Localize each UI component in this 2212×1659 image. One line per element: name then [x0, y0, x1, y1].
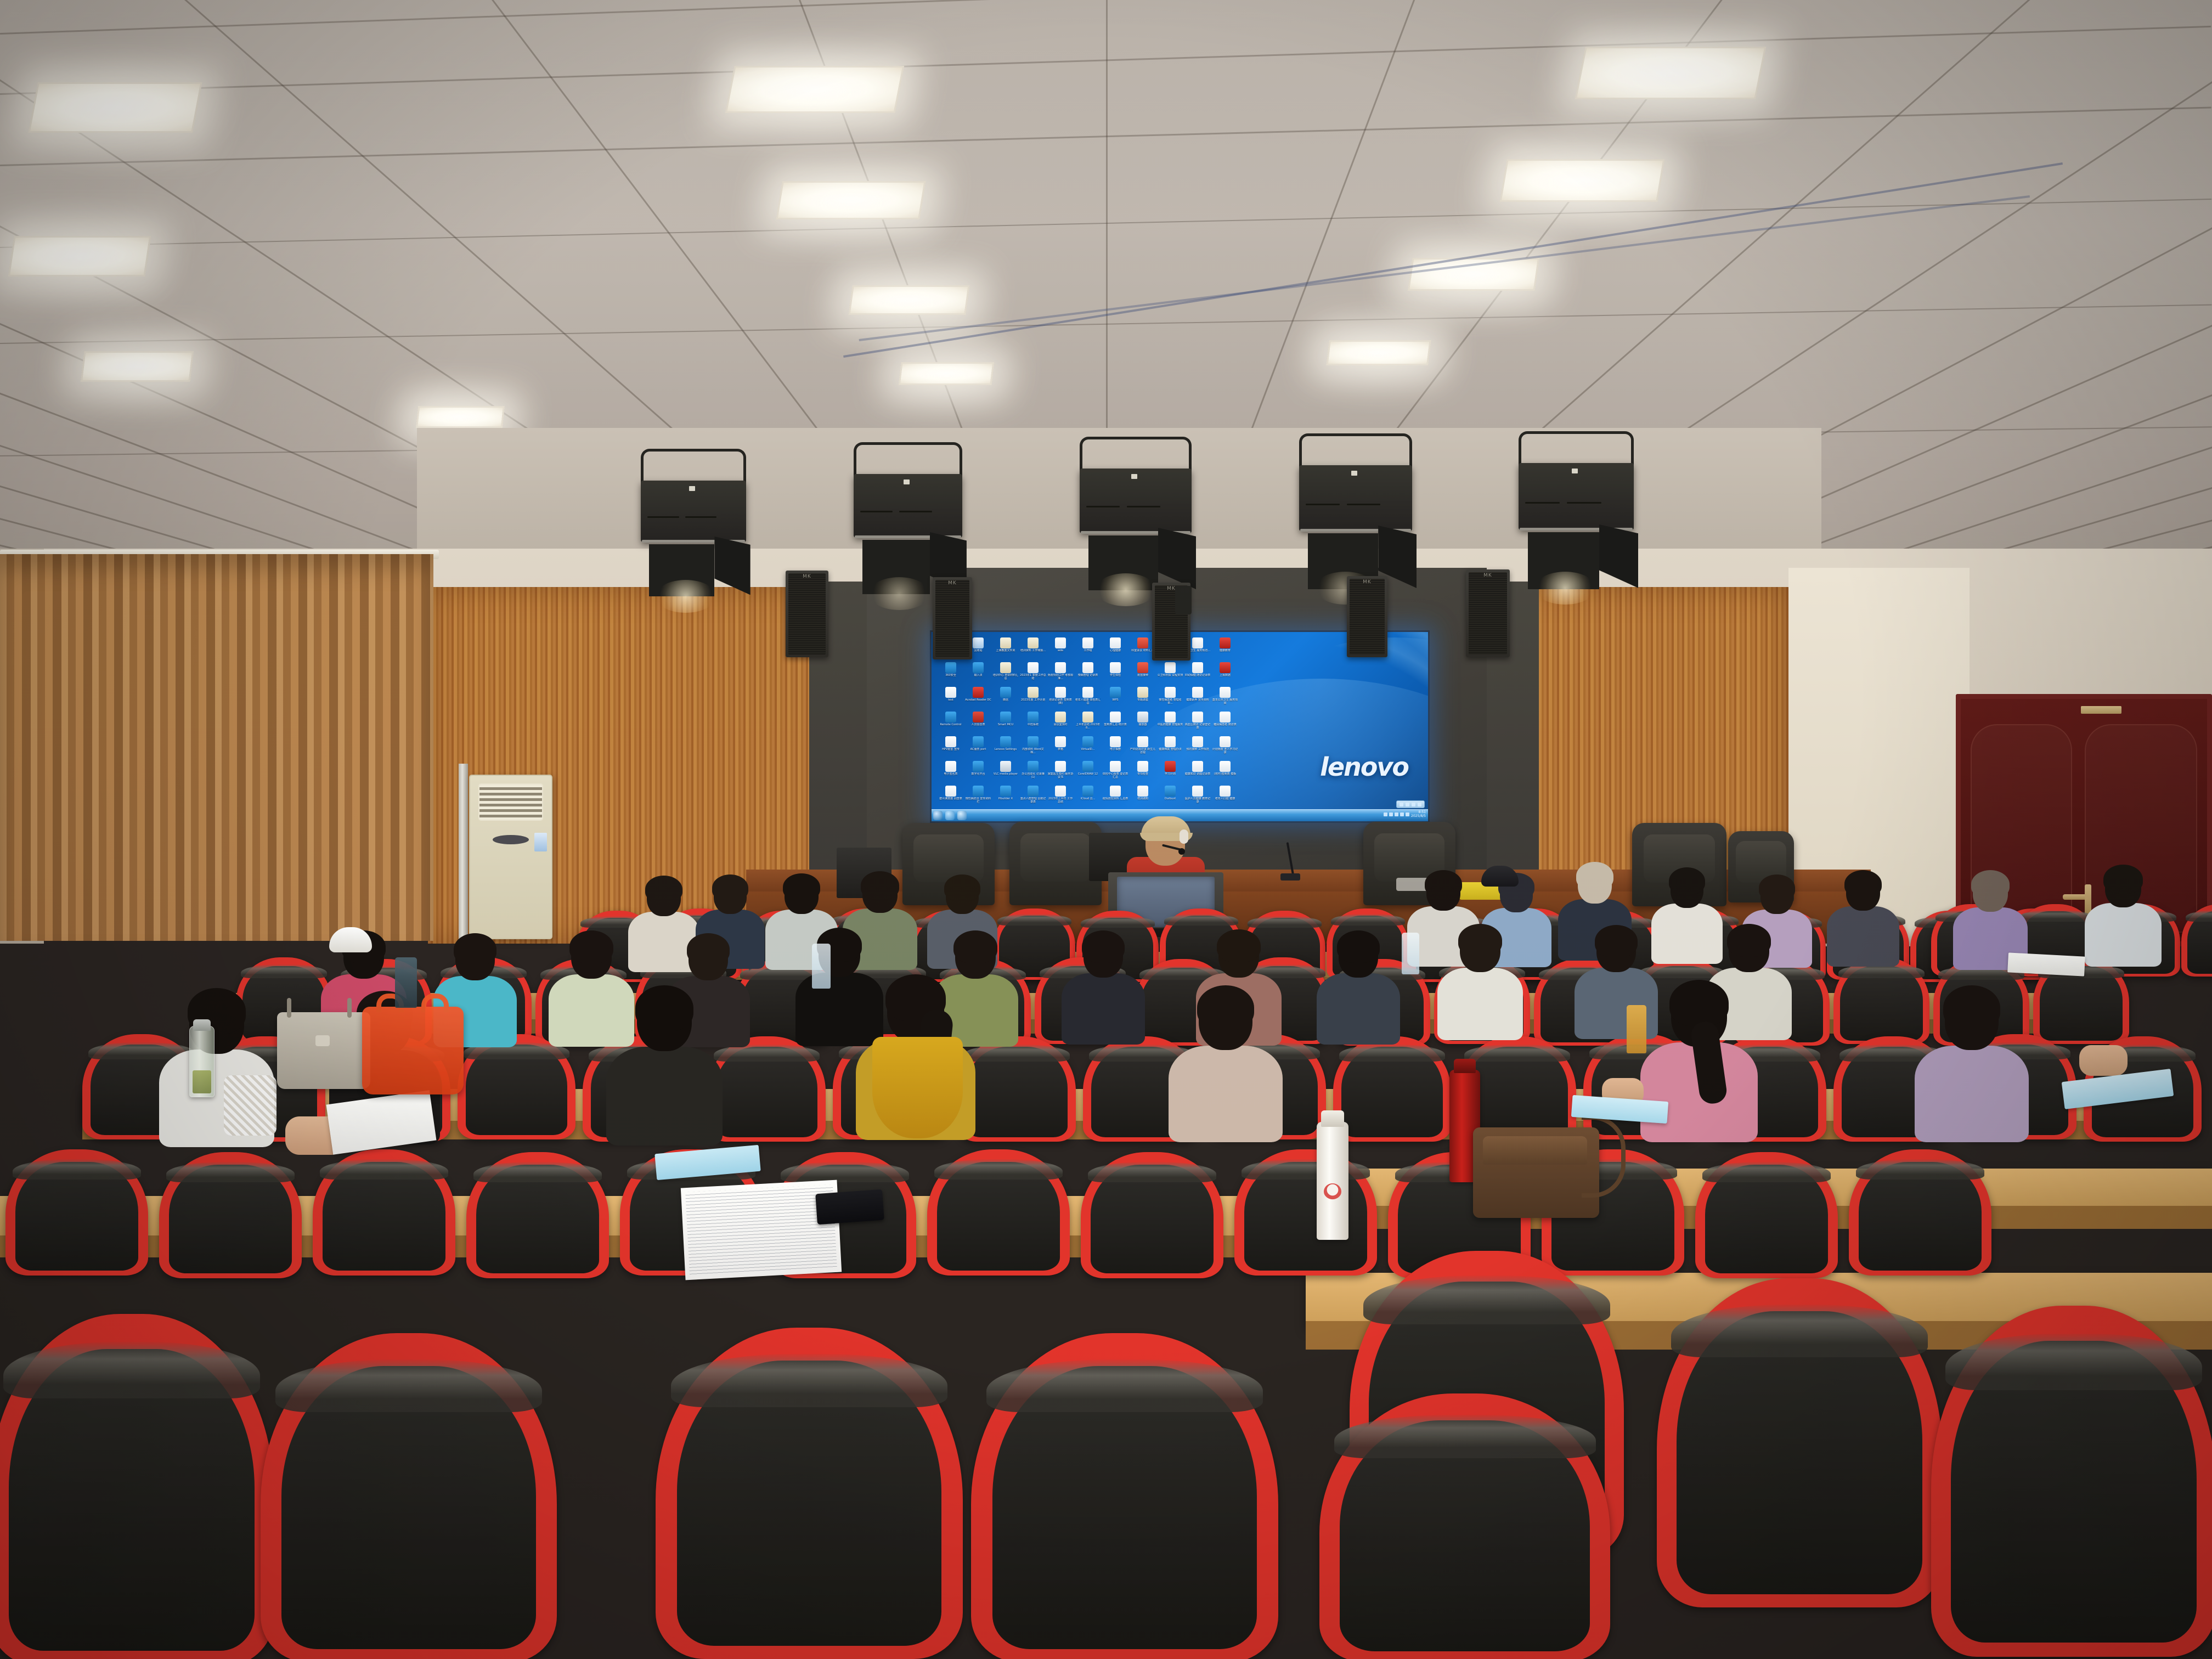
desktop-icon-label: 人员信息表	[965, 723, 991, 733]
tray-glyph	[1412, 803, 1415, 806]
desktop-icon[interactable]: 微信	[992, 686, 1019, 710]
desktop-icon-label: 播放器	[1130, 723, 1156, 733]
grey-handbag[interactable]	[277, 1012, 370, 1089]
presenter-headset-earpiece	[1180, 830, 1188, 844]
desktop-icon[interactable]: AC服务 port	[964, 735, 992, 760]
person-hair	[1669, 980, 1729, 1026]
auditorium-chair-foreground[interactable]	[1319, 1393, 1610, 1659]
stage-light-vent	[1306, 504, 1340, 505]
ac-energy-label	[534, 833, 547, 851]
conference-room-photo: 计算机回收站上课教案文件夹培训资料 工作简报...wde工作组心理健康科室会议 …	[0, 0, 2212, 1659]
doc-icon	[1220, 687, 1231, 698]
auditorium-chair[interactable]	[1333, 1036, 1451, 1142]
desktop-icon-label: iCloud 云...	[1075, 797, 1101, 807]
water-bottle[interactable]	[812, 944, 831, 989]
ceiling-light-glow	[44, 324, 230, 415]
desktop-icon-label: 学生体检	[1102, 674, 1128, 684]
tray-overflow-popup[interactable]	[1396, 800, 1425, 808]
desktop-icon[interactable]: 健康档案 管理办法	[1156, 735, 1184, 760]
desktop-icon[interactable]: test	[937, 686, 964, 710]
desktop-icon[interactable]: WPS	[1102, 686, 1129, 710]
brown-leather-bag[interactable]	[1473, 1127, 1599, 1218]
auditorium-chair-foreground[interactable]	[1931, 1306, 2212, 1657]
desktop-icon[interactable]: HPV疫苗 宣传	[937, 735, 964, 760]
clock-time: 8:51	[1419, 810, 1426, 814]
chair-top-rail	[1702, 1162, 1831, 1182]
doc-icon	[1055, 736, 1066, 747]
person-torso	[1437, 968, 1523, 1040]
app-icon	[1082, 736, 1093, 747]
stage-light-bracket	[1080, 437, 1192, 471]
person-hair	[712, 874, 748, 901]
stage-light-vent	[1525, 502, 1560, 504]
desktop-icon-label: 数字化平台	[965, 772, 991, 782]
doc-icon	[1028, 662, 1039, 673]
desktop-icon-label: 上半年总结 2023年8...	[1075, 723, 1101, 733]
speaker-brand-label: MK	[803, 574, 811, 579]
p-mid-g	[1062, 933, 1145, 1049]
desktop-icon[interactable]: (附件)签到表 模板	[1211, 760, 1239, 785]
desktop-icon-label: 电子签名表	[938, 772, 964, 782]
person-torso	[1915, 1046, 2029, 1142]
stage-light-barn-door-side	[714, 537, 750, 595]
desktop-icon-label: 工作组	[1075, 649, 1101, 659]
desktop-icon[interactable]: 专题讲座	[1129, 686, 1156, 710]
stage-light-bracket	[1519, 431, 1634, 465]
white-thermos[interactable]	[1317, 1122, 1348, 1240]
doc-icon	[1110, 637, 1121, 648]
doc-icon	[1110, 712, 1121, 723]
stage-light-barn-door-side	[1599, 524, 1638, 588]
app-icon	[1000, 687, 1011, 698]
chair-top-rail	[781, 1162, 909, 1182]
desktop-icon-label: 2023年上半年 工作总结	[1047, 797, 1074, 807]
desktop-icon-label: 妇幼保健 随访记录表	[1184, 674, 1211, 684]
desktop-icon[interactable]: 健康素养 宣传资料	[1184, 686, 1211, 710]
person-hair	[1727, 924, 1771, 957]
desktop-icon[interactable]: Durbuvt	[1156, 785, 1184, 809]
desktop-icon[interactable]: 群众满意度 调查表	[937, 785, 964, 809]
desktop-icon[interactable]: 培训中心 培训材料汇总	[992, 661, 1019, 686]
desktop-icon[interactable]: wde	[1047, 636, 1074, 661]
app-icon	[1028, 712, 1039, 723]
desktop-icon[interactable]: Acrobat Reader DC	[964, 686, 992, 710]
desktop-icon-label: 上报数据	[1212, 674, 1238, 684]
doc-icon	[1082, 637, 1093, 648]
taskbar-clock[interactable]: 8:51 2025/8/5	[1411, 810, 1426, 818]
ac-brand-badge	[493, 835, 529, 844]
desktop-icon[interactable]: 计划免疫 老人学习记录	[1211, 735, 1239, 760]
person-hair	[1082, 930, 1125, 963]
desktop-icon-label: 专项检查	[1130, 772, 1156, 782]
desktop-icon[interactable]: 慢性病患者 管理名单...	[1156, 686, 1184, 710]
taskbar-system-tray[interactable]: 8:51 2025/8/5	[1384, 810, 1426, 818]
desktop-icon-label: 会议室预约	[1047, 723, 1074, 733]
stage-light-bracket	[1299, 433, 1412, 467]
doc-icon	[1055, 786, 1066, 797]
wall-speaker: MK	[1347, 576, 1387, 657]
stage-light	[636, 449, 775, 620]
person-hair	[861, 871, 899, 900]
desktop-icon[interactable]: 电子签名表	[937, 760, 964, 785]
desktop-icon-label: 输入法	[965, 674, 991, 684]
desktop-icon[interactable]: 妇幼保健 随访记录表	[1184, 661, 1211, 686]
pdf-icon	[973, 687, 984, 698]
desktop-icon[interactable]: 专项检查	[1129, 760, 1156, 785]
desktop-icon-label: 慢性病患者 管理名单...	[1157, 698, 1183, 708]
ceiling-light-glow	[0, 55, 236, 166]
desktop-icon-label: 高血压随访 记录登记表	[1184, 723, 1211, 733]
desktop-icon-label: Durbuvt	[1157, 797, 1183, 807]
desktop-icon[interactable]: 电子相册	[1102, 735, 1129, 760]
taskbar-pinned-apps[interactable]	[933, 811, 967, 820]
auditorium-chair[interactable]	[313, 1149, 455, 1276]
desktop-icon[interactable]: 2023年1 季度工作总结	[1019, 661, 1047, 686]
desktop-icon[interactable]: 360安全	[937, 661, 964, 686]
desktop-icon[interactable]: 培训资料 工作简报...	[1019, 636, 1047, 661]
auditorium-chair-foreground[interactable]	[971, 1333, 1278, 1659]
desktop-icon[interactable]: 基本公共卫生 服务项目	[1211, 686, 1239, 710]
desktop-icon[interactable]: 内部资料 Word文档...	[1019, 735, 1047, 760]
doc-icon	[1192, 786, 1203, 797]
auditorium-chair-foreground[interactable]	[0, 1314, 274, 1659]
person-hair	[635, 985, 693, 1031]
desktop-icon-label: 体检中心报表 登记表汇总	[1102, 772, 1128, 782]
auditorium-chair-foreground[interactable]	[656, 1328, 963, 1659]
pdf-icon	[1220, 637, 1231, 648]
auditorium-chair[interactable]	[708, 1036, 826, 1142]
desktop-icon-label: 重点人群管理 台账记录表	[1020, 797, 1046, 807]
auditorium-chair-foreground[interactable]	[261, 1333, 557, 1659]
stage-light-beam-glow	[1096, 573, 1156, 606]
ac-vent-louvers	[478, 783, 543, 821]
desktop-icon[interactable]: 健康知识 讲座记录表	[1184, 760, 1211, 785]
person-hair	[783, 873, 820, 901]
desktop-icon[interactable]: 学生体检	[1102, 661, 1129, 686]
handbag-strap	[287, 998, 291, 1018]
ac-pipe	[459, 764, 468, 945]
desktop-icon-label: 专题讲座	[1130, 698, 1156, 708]
speaker-brand-label: MK	[1363, 579, 1372, 585]
desktop-icon[interactable]: 上报数据	[1211, 661, 1239, 686]
pdf-icon	[1165, 761, 1176, 772]
door-nameplate	[2081, 706, 2121, 714]
desktop-icon-label: 健康档案 管理办法	[1157, 748, 1183, 758]
doc-icon	[1110, 736, 1121, 747]
stage-light-badge	[1131, 474, 1137, 479]
bag-handle	[421, 994, 449, 1012]
desktop-icon[interactable]: 上半年总结 2023年8...	[1074, 710, 1102, 735]
tray-glyph	[1418, 803, 1421, 806]
chair-top-rail	[1081, 916, 1155, 928]
app-icon	[1028, 736, 1039, 747]
desktop-icon[interactable]: Remote Control	[937, 710, 964, 735]
person-hair	[2103, 865, 2143, 894]
auditorium-chair[interactable]	[927, 1149, 1070, 1276]
desktop-icon-label: 慢病管理 记录表	[1075, 674, 1101, 684]
desktop-icon[interactable]: 2023年度 工作计划	[1019, 686, 1047, 710]
desktop-icon[interactable]: VLC media player	[992, 760, 1019, 785]
desktop-icon[interactable]: 免疫规划工作 考核标准...	[1047, 661, 1074, 686]
stage-light-housing	[854, 474, 962, 538]
tea-leaves	[193, 1070, 211, 1093]
p-white-tee	[1437, 926, 1523, 1045]
desktop-icon[interactable]: 糖尿病患者 随访表	[1211, 710, 1239, 735]
desktop-icon-label: (附件)签到表 模板	[1212, 772, 1238, 782]
gooseneck-mic-base	[1280, 873, 1300, 881]
speaker-brand-label: MK	[1167, 586, 1176, 591]
app-icon	[1000, 736, 1011, 747]
juice-bottle[interactable]	[1627, 1005, 1646, 1053]
desktop-icon-label: 老年人口腔 健康	[1212, 797, 1238, 807]
stage-light-vent	[1086, 506, 1120, 507]
explorer-icon[interactable]	[957, 811, 967, 820]
flask-cap	[193, 1019, 211, 1030]
media-icon[interactable]	[945, 811, 955, 820]
chair-top-rail	[934, 1159, 1063, 1180]
desktop-icon[interactable]: 2023年上半年 工作总结	[1047, 785, 1074, 809]
chair-top-rail	[671, 1354, 947, 1407]
speaker-grille	[1350, 579, 1385, 654]
ceiling-grid-line	[0, 0, 2211, 35]
auditorium-chair[interactable]	[1695, 1152, 1838, 1278]
person-hair	[1217, 929, 1261, 962]
desktop-icon[interactable]: 预防接种 工作规范	[1184, 735, 1211, 760]
desktop-icon[interactable]: 输入法	[964, 661, 992, 686]
doc-icon	[945, 761, 956, 772]
clock-date: 2025/8/5	[1411, 814, 1426, 818]
desktop-icon[interactable]: Lenovo Settings	[992, 735, 1019, 760]
person-hair	[1971, 870, 2010, 899]
desktop-icon-label: 2023年1 季度工作总结	[1020, 674, 1046, 684]
thermos-lid	[1321, 1110, 1344, 1127]
doc-icon	[1137, 736, 1148, 747]
person-hair	[1197, 985, 1254, 1030]
chair-top-rail	[1164, 914, 1238, 926]
orange-shopping-bag[interactable]	[362, 1007, 464, 1094]
chair-top-rail	[275, 1359, 542, 1412]
browser-icon[interactable]	[933, 811, 943, 820]
desktop-icon[interactable]: 老年人口腔 健康	[1211, 785, 1239, 809]
doc-icon	[1220, 786, 1231, 797]
person-torso	[1169, 1046, 1283, 1142]
person-torso	[1317, 973, 1400, 1045]
desktop-icon-label: 培训记录表 签到表(新)	[1047, 698, 1074, 708]
doc-icon	[1165, 687, 1176, 698]
desktop-icon-label: 基本公共卫生 服务项目	[1212, 698, 1238, 708]
person-hair	[454, 933, 496, 966]
desktop-icon-label: 学习计划	[1157, 772, 1183, 782]
desktop-icon[interactable]: 慢病管理 记录表	[1074, 661, 1102, 686]
desktop-icon-label: 预防接种 工作规范	[1184, 748, 1211, 758]
water-bottle[interactable]	[395, 957, 417, 1008]
person-hair	[1576, 862, 1613, 890]
desktop-icon[interactable]: CorelDRAW 12	[1074, 760, 1102, 785]
auditorium-chair[interactable]	[159, 1152, 302, 1278]
hand	[2079, 1045, 2128, 1076]
desktop-icon[interactable]: 中控系统	[1019, 710, 1047, 735]
desktop-icon-label: 产妇访视记录 新生儿访视	[1130, 748, 1156, 758]
desktop-icon[interactable]: Smart MCU	[992, 710, 1019, 735]
chair-top-rail	[1248, 916, 1322, 928]
desktop-icon[interactable]: 上课教案文件夹	[992, 636, 1019, 661]
desktop-icon[interactable]: 产妇访视记录 新生儿访视	[1129, 735, 1156, 760]
app-icon	[1028, 786, 1039, 797]
doc-icon	[1192, 662, 1203, 673]
speaker-brand-label: MK	[1483, 573, 1492, 578]
desktop-icon[interactable]: 人员信息表	[964, 710, 992, 735]
app-icon	[1000, 786, 1011, 797]
chair-top-rail	[2186, 910, 2212, 922]
desktop-icon[interactable]: 心理健康	[1102, 636, 1129, 661]
doc-icon	[1055, 761, 1066, 772]
desktop-icon[interactable]: 培训通知	[1129, 785, 1156, 809]
stage-light-beam-glow	[869, 577, 929, 610]
doc-icon	[945, 687, 956, 698]
glass-tea-flask[interactable]	[189, 1026, 215, 1097]
chair-top-rail	[1363, 1276, 1610, 1325]
tray-shield-icon[interactable]	[1400, 812, 1404, 816]
folder-icon	[1028, 687, 1039, 698]
ceiling-light-glow	[861, 335, 1031, 418]
doc-icon	[1192, 637, 1203, 648]
auditorium-chair[interactable]	[5, 1149, 148, 1276]
auditorium-chair[interactable]	[1081, 1152, 1223, 1278]
doc-icon	[1055, 637, 1066, 648]
app-icon	[1028, 761, 1039, 772]
desktop-icon[interactable]: 重点人群管理 台账记录表	[1019, 785, 1047, 809]
app-icon	[1082, 786, 1093, 797]
desktop-icon[interactable]: 培训记录表 签到表(新)	[1047, 686, 1074, 710]
stage-light-housing	[1519, 463, 1634, 530]
desktop-icon-label: 医护人员健康 教育记录	[1184, 797, 1211, 807]
person-hair	[953, 930, 997, 963]
dais-chair[interactable]	[1009, 822, 1102, 905]
desktop-icon-label: 上课教案文件夹	[992, 649, 1019, 659]
speaker-grille	[935, 580, 969, 657]
app-icon	[973, 761, 984, 772]
doc-icon	[1165, 736, 1176, 747]
desktop-icon-grid[interactable]: 计算机回收站上课教案文件夹培训资料 工作简报...wde工作组心理健康科室会议 …	[937, 636, 1244, 821]
desktop-icon[interactable]: 工作组	[1074, 636, 1102, 661]
app-icon	[945, 662, 956, 673]
desktop-icon[interactable]: 疫情防控资料 汇总表	[1102, 785, 1129, 809]
chair-top-rail	[473, 1162, 602, 1182]
doc-icon	[1055, 687, 1066, 698]
handbag-strap	[347, 998, 352, 1018]
stage-light-barn-door-side	[1158, 528, 1196, 589]
desktop-icon-label: 家庭医生签约 服务协议书	[1047, 772, 1074, 782]
speaker-brand-label: MK	[948, 580, 957, 586]
thermos-lid	[1454, 1059, 1476, 1074]
person-torso	[1062, 973, 1145, 1045]
stage-light-housing	[1080, 469, 1192, 533]
desktop-icon-label: 2023年度 工作计划	[1020, 698, 1046, 708]
chair-top-rail	[3, 1342, 260, 1398]
doc-icon	[1137, 786, 1148, 797]
paper-sheet[interactable]	[2007, 952, 2085, 976]
smartphone[interactable]	[815, 1189, 884, 1224]
desktop-icon-label: Acrobat Reader DC	[965, 698, 991, 708]
desktop-icon[interactable]: 高血压随访 记录登记表	[1184, 710, 1211, 735]
desktop-icon-label: 微信	[992, 698, 1019, 708]
auditorium-chair-foreground[interactable]	[1657, 1278, 1942, 1607]
desktop-icon[interactable]: 数字化平台	[964, 760, 992, 785]
tray-volume-icon[interactable]	[1389, 812, 1393, 816]
desktop-icon[interactable]: 疫苗接种	[1129, 661, 1156, 686]
doc-icon	[945, 736, 956, 747]
desktop-icon[interactable]: 公卫科例会 议程安排	[1156, 661, 1184, 686]
tray-ime-icon[interactable]	[1395, 812, 1398, 816]
desktop-icon-label: 办公自动化 记录簿(1)	[1020, 772, 1046, 782]
water-bottle[interactable]	[1402, 933, 1419, 974]
desktop-icon-label: Smart MCU	[992, 723, 1019, 733]
tray-battery-icon[interactable]	[1406, 812, 1409, 816]
person-hair	[1595, 925, 1638, 957]
tray-network-icon[interactable]	[1384, 812, 1387, 816]
desktop-icon[interactable]: VirtualD...	[1074, 735, 1102, 760]
wall-speaker: MK	[786, 571, 828, 657]
doc-icon	[1220, 736, 1231, 747]
media-icon	[1000, 761, 1011, 772]
desktop-icon-label: Lenovo Settings	[992, 748, 1019, 758]
desktop-icon[interactable]: Hbuilder X	[992, 785, 1019, 809]
stage-light-badge	[689, 486, 695, 491]
desktop-icon[interactable]: 体检中心报表 登记表汇总	[1102, 760, 1129, 785]
person-hair	[1943, 985, 2000, 1030]
desktop-icon[interactable]: 播放器	[1129, 710, 1156, 735]
doc-icon	[1192, 712, 1203, 723]
auditorium-chair[interactable]	[2181, 904, 2212, 977]
monkey-sticker	[1324, 1183, 1341, 1200]
stage-light-vent	[685, 516, 717, 518]
ceiling-light-glow	[0, 208, 187, 309]
desktop-icon[interactable]: 表格	[1047, 735, 1074, 760]
desktop-icon[interactable]: 医护人员健康 教育记录	[1184, 785, 1211, 809]
auditorium-chair[interactable]	[958, 1036, 1076, 1142]
desktop-icon[interactable]: 中医药健康 管理服务	[1156, 710, 1184, 735]
desktop-icon-label: 公卫科例会 议程安排	[1157, 674, 1183, 684]
chair-top-rail	[241, 964, 328, 978]
desktop-icon[interactable]: 办公自动化 记录簿(1)	[1019, 760, 1047, 785]
p-front-e	[1169, 988, 1283, 1147]
desktop-icon[interactable]: 签到表汇总 统计表	[1102, 710, 1129, 735]
stage-light-housing	[1299, 465, 1412, 531]
desktop-icon[interactable]: 家庭医生签约 服务协议书	[1047, 760, 1074, 785]
chair-top-rail	[986, 1359, 1263, 1412]
stage-light-vent	[899, 511, 932, 512]
auditorium-chair[interactable]	[1849, 1149, 1991, 1276]
stage-light-vent	[1567, 502, 1601, 504]
desktop-icon-label: 群众满意度 调查表	[938, 797, 964, 807]
desktop-icon[interactable]: 慢性病防治 宣传资料栏	[964, 785, 992, 809]
auditorium-chair[interactable]	[466, 1152, 609, 1278]
desktop-icon[interactable]: 会议室预约	[1047, 710, 1074, 735]
desktop-icon[interactable]: 老年人健康 体检表汇总	[1074, 686, 1102, 710]
desktop-icon[interactable]: 学习计划	[1156, 760, 1184, 785]
person-hair	[645, 876, 682, 903]
desktop-icon-label: 360安全	[938, 674, 964, 684]
stage-light-bracket	[854, 442, 962, 476]
recycle-icon	[973, 637, 984, 648]
desktop-icon[interactable]: 健康教育	[1211, 636, 1239, 661]
desktop-icon[interactable]: iCloud 云...	[1074, 785, 1102, 809]
window-curtain[interactable]	[0, 554, 433, 941]
media-icon	[1137, 712, 1148, 723]
stage-light	[1075, 437, 1220, 611]
chair-top-rail	[1464, 1045, 1571, 1062]
desktop-icon-label: 培训资料 工作简报...	[1020, 649, 1046, 659]
